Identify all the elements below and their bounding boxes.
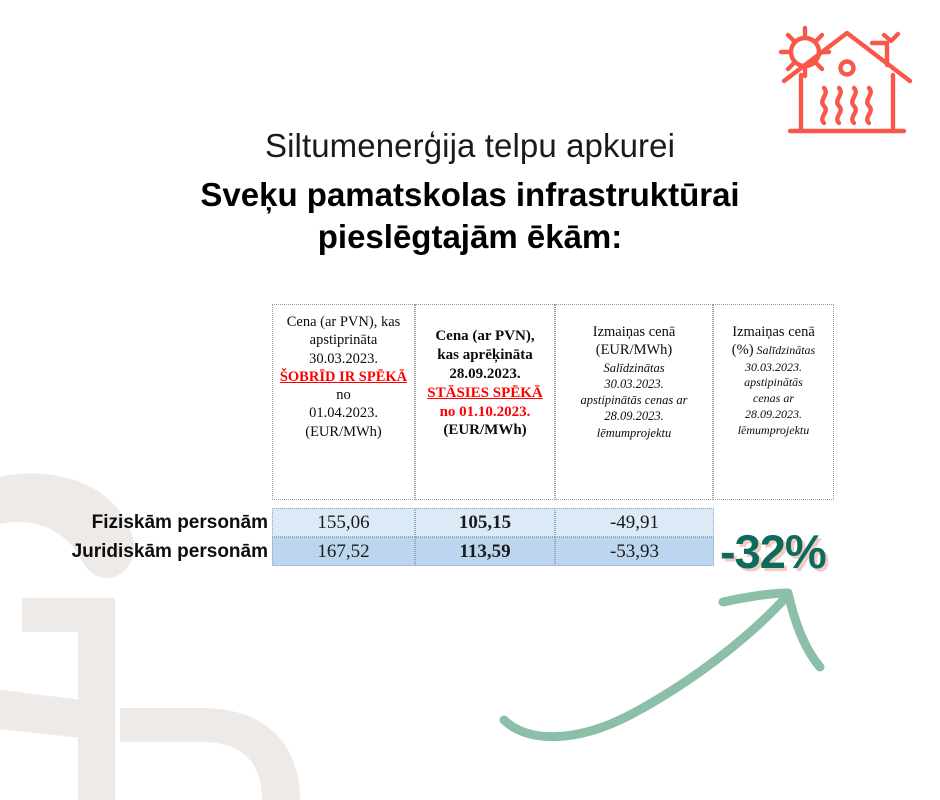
header-unit-with-note: (%) Salīdzinātas: [718, 341, 829, 359]
table-header-change-eur: Izmaiņas cenā (EUR/MWh) Salīdzinātas 30.…: [555, 304, 713, 500]
header-text-line: 01.04.2023.: [277, 404, 410, 422]
header-unit: (EUR/MWh): [560, 341, 708, 359]
house-heating-icon: [768, 18, 928, 136]
cell-approved-price: 167,52: [272, 537, 415, 566]
header-note-line: 28.09.2023.: [560, 408, 708, 424]
row-label-juridiskam-personam: Juridiskām personām: [20, 537, 268, 566]
header-emphasis-suffix: no: [336, 387, 351, 403]
cell-approved-price: 155,06: [272, 508, 415, 537]
upward-curved-arrow-icon: [480, 575, 850, 775]
table-header-calculated-price: Cena (ar PVN), kas aprēķināta 28.09.2023…: [415, 304, 555, 500]
percent-change-badge: -32%: [720, 524, 826, 579]
row-label-fiziskam-personam: Fiziskām personām: [20, 508, 268, 537]
cell-change-eur: -53,93: [555, 537, 714, 566]
cell-change-eur: -49,91: [555, 508, 714, 537]
header-text-line: Cena (ar PVN),: [420, 327, 550, 346]
header-note-line: apstipinātās cenas ar: [560, 392, 708, 408]
table-header-change-percent: Izmaiņas cenā (%) Salīdzinātas 30.03.202…: [713, 304, 834, 500]
cell-calculated-price: 113,59: [415, 537, 555, 566]
table-header-row: Cena (ar PVN), kas apstiprināta 30.03.20…: [272, 304, 834, 500]
page-title-subtitle: Siltumenerģija telpu apkurei: [120, 126, 820, 166]
table-row: 155,06 105,15 -49,91: [272, 508, 714, 537]
table-row: 167,52 113,59 -53,93: [272, 537, 714, 566]
header-unit: (EUR/MWh): [277, 423, 410, 441]
header-note-line: cenas ar: [718, 391, 829, 407]
header-note-inline: Salīdzinātas: [754, 343, 816, 357]
table-header-approved-price: Cena (ar PVN), kas apstiprināta 30.03.20…: [272, 304, 415, 500]
header-text-line: 30.03.2023.: [277, 350, 410, 368]
header-text-line: 28.09.2023.: [420, 365, 550, 384]
header-text-line: apstiprināta: [277, 331, 410, 349]
header-emphasis-stasies-speka: STĀSIES SPĒKĀ: [420, 384, 550, 403]
header-emphasis-effective-date: no 01.10.2023.: [420, 403, 550, 422]
cell-calculated-price: 105,15: [415, 508, 555, 537]
header-note-line: 28.09.2023.: [718, 407, 829, 423]
price-table: Cena (ar PVN), kas apstiprināta 30.03.20…: [272, 304, 834, 500]
header-note-line: Salīdzinātas: [560, 360, 708, 376]
header-note-line: apstipinātās: [718, 375, 829, 391]
header-note-line: 30.03.2023.: [718, 360, 829, 376]
header-emphasis-wrap: ŠOBRĪD IR SPĒKĀ no: [277, 368, 410, 405]
header-unit: (EUR/MWh): [420, 421, 550, 440]
header-text-line: Izmaiņas cenā: [560, 323, 708, 341]
table-row-labels: Fiziskām personām Juridiskām personām: [20, 508, 268, 566]
header-text-line: Cena (ar PVN), kas: [277, 313, 410, 331]
table-body: 155,06 105,15 -49,91 167,52 113,59 -53,9…: [272, 508, 714, 566]
header-emphasis-sobrid-ir-speka: ŠOBRĪD IR SPĒKĀ: [280, 369, 407, 385]
header-note-line: 30.03.2023.: [560, 376, 708, 392]
header-text-line: kas aprēķināta: [420, 346, 550, 365]
slide-title-block: Siltumenerģija telpu apkurei Sveķu pamat…: [120, 126, 820, 259]
header-note-line: lēmumprojektu: [560, 425, 708, 441]
header-text-line: Izmaiņas cenā: [718, 323, 829, 341]
header-unit: (%): [732, 342, 754, 358]
page-title-main: Sveķu pamatskolas infrastruktūrai pieslē…: [120, 174, 820, 258]
header-note-line: lēmumprojektu: [718, 423, 829, 439]
